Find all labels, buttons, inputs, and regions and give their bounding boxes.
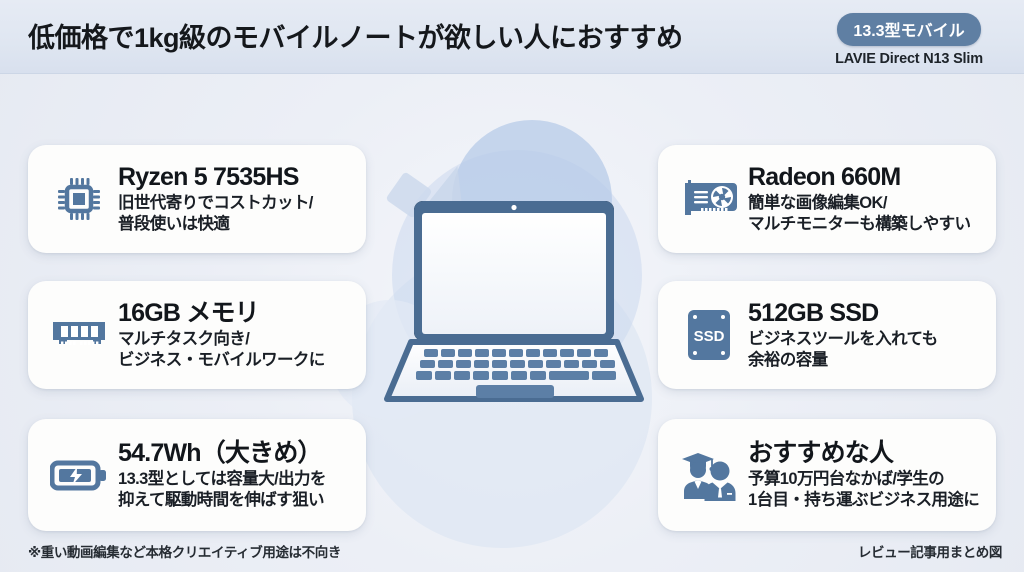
spec-card-memory[interactable]: 16GB メモリ マルチタスク向き/ ビジネス・モバイルワークに xyxy=(28,281,366,389)
spec-title: 512GB SSD xyxy=(748,300,982,327)
spec-description: 予算10万円台なかば/学生の 1台目・持ち運ぶビジネス用途に xyxy=(748,469,982,510)
spec-title: Radeon 660M xyxy=(748,164,982,191)
spec-card-gpu[interactable]: Radeon 660M 簡単な画像編集OK/ マルチモニターも構築しやすい xyxy=(658,145,996,253)
spec-description: マルチタスク向き/ ビジネス・モバイルワークに xyxy=(118,329,352,370)
model-name: LAVIE Direct N13 Slim xyxy=(814,51,1004,67)
page-title: 低価格で1kg級のモバイルノートが欲しい人におすすめ xyxy=(28,16,683,55)
spec-title: Ryzen 5 7535HS xyxy=(118,164,352,191)
cpu-chip-icon xyxy=(42,174,116,224)
ssd-icon-label: SSD xyxy=(694,328,725,345)
people-graduate-business-icon xyxy=(672,447,746,503)
spec-card-battery[interactable]: 54.7Wh（大きめ） 13.3型としては容量大/出力を 抑えて駆動時間を伸ばす… xyxy=(28,419,366,531)
spec-card-text: 512GB SSD ビジネスツールを入れても 余裕の容量 xyxy=(746,300,982,370)
status-badge: 13.3型モバイル xyxy=(837,13,980,46)
infographic-page: 低価格で1kg級のモバイルノートが欲しい人におすすめ 13.3型モバイル LAV… xyxy=(0,0,1024,572)
footer-credit: レビュー記事用まとめ図 xyxy=(858,541,1002,561)
spec-desc-line-1: ビジネスツールを入れても xyxy=(748,329,982,349)
spec-desc-line-1: 予算10万円台なかば/学生の xyxy=(748,469,982,489)
spec-title: おすすめな人 xyxy=(748,440,982,467)
spec-desc-line-2: 余裕の容量 xyxy=(748,350,982,370)
spec-card-text: おすすめな人 予算10万円台なかば/学生の 1台目・持ち運ぶビジネス用途に xyxy=(746,440,982,510)
spec-desc-line-2: 抑えて駆動時間を伸ばす狙い xyxy=(118,490,352,510)
spec-description: 旧世代寄りでコストカット/ 普段使いは快適 xyxy=(118,193,352,234)
spec-card-cpu[interactable]: Ryzen 5 7535HS 旧世代寄りでコストカット/ 普段使いは快適 xyxy=(28,145,366,253)
spec-card-storage[interactable]: SSD 512GB SSD ビジネスツールを入れても 余裕の容量 xyxy=(658,281,996,389)
spec-description: ビジネスツールを入れても 余裕の容量 xyxy=(748,329,982,370)
memory-ram-icon xyxy=(42,316,116,354)
spec-desc-line-1: 簡単な画像編集OK/ xyxy=(748,193,982,213)
laptop-illustration xyxy=(383,197,645,412)
spec-description: 13.3型としては容量大/出力を 抑えて駆動時間を伸ばす狙い xyxy=(118,469,352,510)
spec-desc-line-1: 旧世代寄りでコストカット/ xyxy=(118,193,352,213)
ssd-drive-icon: SSD xyxy=(672,307,746,363)
battery-charging-icon xyxy=(42,458,116,492)
spec-card-text: Ryzen 5 7535HS 旧世代寄りでコストカット/ 普段使いは快適 xyxy=(116,164,352,234)
model-badge-group: 13.3型モバイル LAVIE Direct N13 Slim xyxy=(814,13,1004,67)
spec-desc-line-2: ビジネス・モバイルワークに xyxy=(118,350,352,370)
spec-title: 54.7Wh（大きめ） xyxy=(118,440,352,467)
spec-description: 簡単な画像編集OK/ マルチモニターも構築しやすい xyxy=(748,193,982,234)
spec-desc-line-2: 普段使いは快適 xyxy=(118,214,352,234)
spec-desc-line-2: 1台目・持ち運ぶビジネス用途に xyxy=(748,490,982,510)
spec-card-target-users[interactable]: おすすめな人 予算10万円台なかば/学生の 1台目・持ち運ぶビジネス用途に xyxy=(658,419,996,531)
graphics-card-icon xyxy=(672,177,746,221)
spec-card-text: Radeon 660M 簡単な画像編集OK/ マルチモニターも構築しやすい xyxy=(746,164,982,234)
footer-note: ※重い動画編集など本格クリエイティブ用途は不向き xyxy=(28,541,341,561)
header-bar: 低価格で1kg級のモバイルノートが欲しい人におすすめ 13.3型モバイル LAV… xyxy=(0,0,1024,74)
spec-desc-line-1: 13.3型としては容量大/出力を xyxy=(118,469,352,489)
spec-title: 16GB メモリ xyxy=(118,300,352,327)
spec-card-text: 16GB メモリ マルチタスク向き/ ビジネス・モバイルワークに xyxy=(116,300,352,370)
spec-desc-line-2: マルチモニターも構築しやすい xyxy=(748,214,982,234)
spec-desc-line-1: マルチタスク向き/ xyxy=(118,329,352,349)
spec-card-text: 54.7Wh（大きめ） 13.3型としては容量大/出力を 抑えて駆動時間を伸ばす… xyxy=(116,440,352,510)
